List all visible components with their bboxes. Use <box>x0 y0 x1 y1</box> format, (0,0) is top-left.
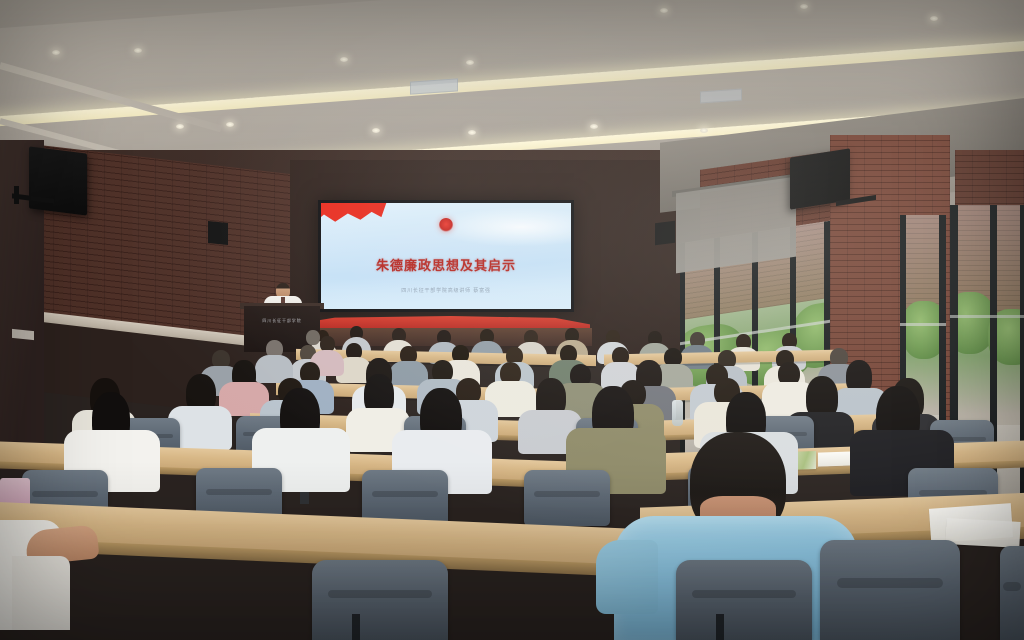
chair[interactable] <box>676 560 812 640</box>
downlight <box>466 60 474 65</box>
downlight <box>372 128 380 133</box>
paper-sheet[interactable] <box>818 451 854 466</box>
water-bottle[interactable] <box>672 400 683 426</box>
wall-speaker-right-small <box>655 221 675 245</box>
downlight <box>800 4 808 9</box>
chair-leg <box>352 614 360 640</box>
projection-screen: 朱德廉政思想及其启示 四川长征干部学院高级讲师 蔡富强 <box>318 200 574 312</box>
downlight <box>176 124 184 129</box>
downlight <box>134 48 142 53</box>
chair[interactable] <box>312 560 448 640</box>
downlight <box>340 57 348 62</box>
party-emblem-icon <box>439 218 453 232</box>
wall-speaker-left-small <box>208 221 228 245</box>
lecture-hall-photo: 朱德廉政思想及其启示 四川长征干部学院高级讲师 蔡富强 四川长征干部学院 <box>0 0 1024 640</box>
downlight <box>930 16 938 21</box>
downlight <box>468 130 476 135</box>
downlight <box>590 124 598 129</box>
speaker-bracket-left-arm <box>14 186 19 204</box>
paper-sheet[interactable] <box>945 518 1020 548</box>
roller-blind[interactable] <box>676 177 796 274</box>
wall-speaker-left <box>29 146 87 215</box>
chair[interactable] <box>524 470 610 526</box>
chair-leg <box>716 614 724 640</box>
downlight <box>226 122 234 127</box>
student-arm <box>596 540 658 614</box>
red-flag-icon <box>321 203 387 227</box>
presentation-slide: 朱德廉政思想及其启示 四川长征干部学院高级讲师 蔡富强 <box>321 203 571 309</box>
downlight <box>52 50 60 55</box>
shoulder <box>12 556 70 630</box>
slide-bottom-gradient <box>321 275 571 309</box>
chair[interactable] <box>1000 546 1024 640</box>
slide-title: 朱德廉政思想及其启示 <box>321 255 571 274</box>
lectern-label: 四川长征干部学院 <box>248 318 316 324</box>
downlight <box>700 128 708 133</box>
downlight <box>660 8 668 13</box>
chair[interactable] <box>820 540 960 640</box>
